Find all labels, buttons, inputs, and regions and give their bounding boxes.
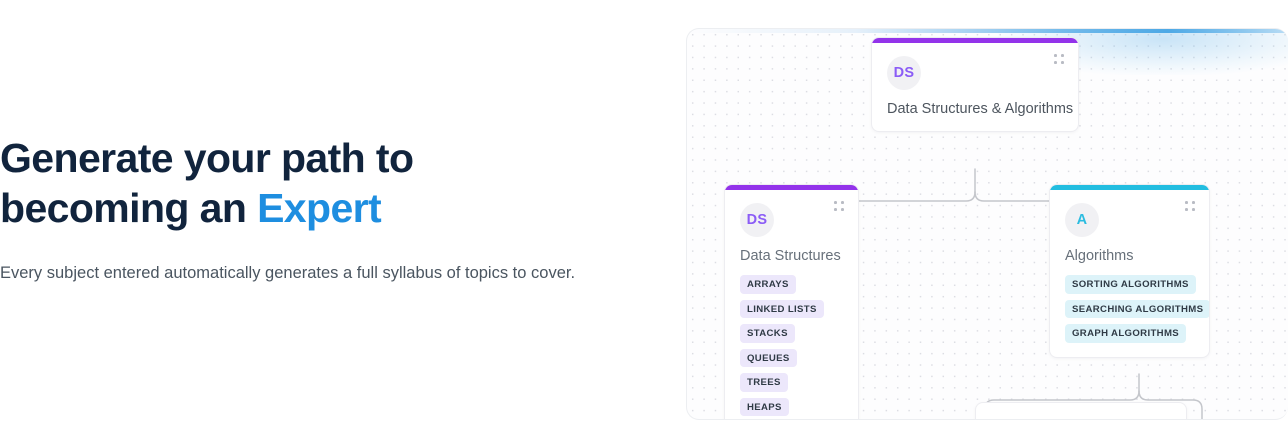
node-title: Data Structures (740, 248, 843, 264)
avatar: DS (887, 56, 921, 90)
topic-tag[interactable]: SEARCHING ALGORITHMS (1065, 300, 1210, 319)
diagram-node-root[interactable]: DS Data Structures & Algorithms (871, 37, 1079, 132)
headline-accent-word: Expert (257, 185, 381, 231)
hero-subcopy: Every subject entered automatically gene… (0, 259, 580, 288)
page-root: Generate your path to becoming an Expert… (0, 0, 1288, 437)
diagram-node-partial[interactable] (975, 402, 1187, 420)
node-body: DS Data Structures & Algorithms (872, 43, 1078, 131)
topic-tag[interactable]: LINKED LISTS (740, 300, 824, 319)
hero-copy: Generate your path to becoming an Expert… (0, 133, 600, 288)
avatar: A (1065, 203, 1099, 237)
diagram-node-data-structures[interactable]: DS Data Structures ARRAYS LINKED LISTS S… (724, 184, 859, 420)
drag-handle-icon[interactable] (1054, 54, 1065, 65)
topic-tag[interactable]: ARRAYS (740, 275, 796, 294)
diagram-node-algorithms[interactable]: A Algorithms SORTING ALGORITHMS SEARCHIN… (1049, 184, 1210, 358)
node-title: Algorithms (1065, 248, 1194, 264)
topic-tag[interactable]: SORTING ALGORITHMS (1065, 275, 1196, 294)
topic-tag-list: ARRAYS LINKED LISTS STACKS QUEUES TREES … (740, 275, 843, 416)
topic-tag-list: SORTING ALGORITHMS SEARCHING ALGORITHMS … (1065, 275, 1194, 343)
node-body: A Algorithms SORTING ALGORITHMS SEARCHIN… (1050, 190, 1209, 357)
diagram-canvas[interactable]: DS Data Structures & Algorithms DS Data … (686, 28, 1288, 420)
topic-tag[interactable]: HEAPS (740, 398, 789, 417)
topic-tag[interactable]: GRAPH ALGORITHMS (1065, 324, 1186, 343)
topic-tag[interactable]: TREES (740, 373, 788, 392)
topic-tag[interactable]: QUEUES (740, 349, 797, 368)
drag-handle-icon[interactable] (834, 201, 845, 212)
page-title: Generate your path to becoming an Expert (0, 133, 600, 233)
topic-tag[interactable]: STACKS (740, 324, 795, 343)
canvas-top-glow (687, 29, 1288, 33)
avatar: DS (740, 203, 774, 237)
node-body: DS Data Structures ARRAYS LINKED LISTS S… (725, 190, 858, 420)
node-title: Data Structures & Algorithms (887, 101, 1063, 117)
drag-handle-icon[interactable] (1185, 201, 1196, 212)
